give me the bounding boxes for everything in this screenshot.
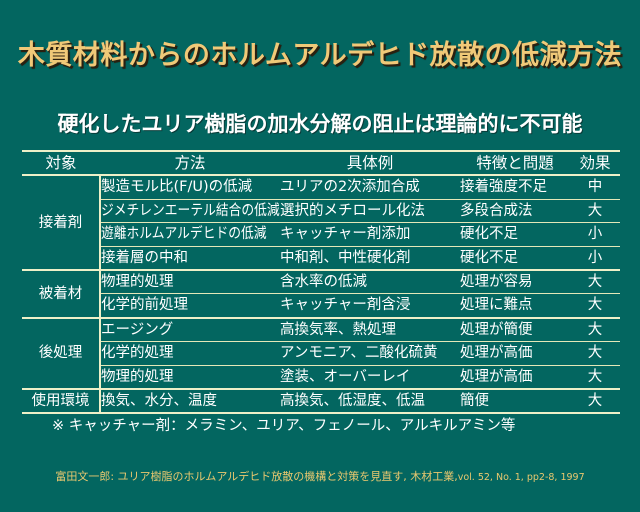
group-label-target: 接着剤	[22, 175, 100, 270]
header-feature: 特徴と問題	[460, 151, 570, 175]
citation-reference: 富田文一郎: ユリア樹脂のホルムアルデヒド放散の機構と対策を見直す, 木材工業,…	[0, 468, 640, 484]
footnote-catcher-agents: ※ キャッチャー剤：メラミン、ユリア、フェノール、アルキルアミン等	[52, 414, 515, 435]
cell-example: 中和剤、中性硬化剤	[280, 246, 460, 270]
cell-effect: 大	[570, 270, 620, 294]
table-row: 化学的前処理 キャッチャー剤含浸 処理に難点 大	[22, 294, 620, 318]
cell-example: ユリアの2次添加合成	[280, 175, 460, 199]
group-label-target: 使用環境	[22, 389, 100, 413]
cell-feature: 処理が高価	[460, 342, 570, 365]
cell-example: キャッチャー剤添加	[280, 223, 460, 246]
table-row: 接着剤 製造モル比(F/U)の低減 ユリアの2次添加合成 接着強度不足 中	[22, 175, 620, 199]
cell-method: 化学的前処理	[100, 294, 280, 318]
slide-canvas: 木質材料からのホルムアルデヒド放散の低減方法 硬化したユリア樹脂の加水分解の阻止…	[0, 0, 640, 512]
group-label-target: 被着材	[22, 270, 100, 318]
cell-effect: 小	[570, 223, 620, 246]
cell-feature: 硬化不足	[460, 223, 570, 246]
table-row: 使用環境 換気、水分、温度 高換気、低湿度、低温 簡便 大	[22, 389, 620, 413]
cell-method-text: 遊離ホルムアルデヒドの低減	[101, 223, 267, 245]
cell-example: キャッチャー剤含浸	[280, 294, 460, 318]
cell-effect: 大	[570, 365, 620, 389]
cell-effect: 小	[570, 246, 620, 270]
cell-example: 選択的メチロール化法	[280, 199, 460, 222]
header-target: 対象	[22, 151, 100, 175]
cell-example: 高換気、低湿度、低温	[280, 389, 460, 413]
cell-feature: 多段合成法	[460, 199, 570, 222]
header-method: 方法	[100, 151, 280, 175]
cell-example: アンモニア、二酸化硫黄	[280, 342, 460, 365]
cell-method: 製造モル比(F/U)の低減	[100, 175, 280, 199]
countermeasure-table-wrapper: 対象 方法 具体例 特徴と問題 効果 接着剤 製造モル比(F/U)の低減 ユリア…	[22, 150, 620, 414]
cell-example: 含水率の低減	[280, 270, 460, 294]
cell-feature: 処理が簡便	[460, 318, 570, 342]
table-row: 遊離ホルムアルデヒドの低減 キャッチャー剤添加 硬化不足 小	[22, 223, 620, 246]
cell-feature: 処理に難点	[460, 294, 570, 318]
citation-main: 富田文一郎: ユリア樹脂のホルムアルデヒド放散の機構と対策を見直す, 木材工業,	[55, 470, 457, 483]
table-row: 後処理 エージング 高換気率、熱処理 処理が簡便 大	[22, 318, 620, 342]
header-example: 具体例	[280, 151, 460, 175]
cell-effect: 大	[570, 294, 620, 318]
cell-effect: 大	[570, 389, 620, 413]
cell-feature: 処理が容易	[460, 270, 570, 294]
slide-title: 木質材料からのホルムアルデヒド放散の低減方法	[0, 33, 640, 72]
citation-detail: vol. 52, No. 1, pp2-8, 1997	[458, 472, 585, 483]
slide-subtitle: 硬化したユリア樹脂の加水分解の阻止は理論的に不可能	[0, 108, 640, 138]
cell-method: 物理的処理	[100, 270, 280, 294]
cell-method: エージング	[100, 318, 280, 342]
cell-method: 換気、水分、温度	[100, 389, 280, 413]
cell-method: 接着層の中和	[100, 246, 280, 270]
table-row: 化学的処理 アンモニア、二酸化硫黄 処理が高価 大	[22, 342, 620, 365]
table-row: 接着層の中和 中和剤、中性硬化剤 硬化不足 小	[22, 246, 620, 270]
cell-method: 物理的処理	[100, 365, 280, 389]
cell-feature: 接着強度不足	[460, 175, 570, 199]
header-effect: 効果	[570, 151, 620, 175]
cell-feature: 簡便	[460, 389, 570, 413]
cell-example: 高換気率、熱処理	[280, 318, 460, 342]
table-row: 物理的処理 塗装、オーバーレイ 処理が高価 大	[22, 365, 620, 389]
cell-feature: 硬化不足	[460, 246, 570, 270]
cell-effect: 大	[570, 342, 620, 365]
cell-feature: 処理が高価	[460, 365, 570, 389]
cell-method: 化学的処理	[100, 342, 280, 365]
cell-effect: 大	[570, 199, 620, 222]
table-header-row: 対象 方法 具体例 特徴と問題 効果	[22, 151, 620, 175]
cell-example: 塗装、オーバーレイ	[280, 365, 460, 389]
cell-effect: 大	[570, 318, 620, 342]
cell-effect: 中	[570, 175, 620, 199]
cell-method-text: ジメチレンエーテル結合の低減	[101, 200, 280, 222]
table-row: 被着材 物理的処理 含水率の低減 処理が容易 大	[22, 270, 620, 294]
table-row: ジメチレンエーテル結合の低減 選択的メチロール化法 多段合成法 大	[22, 199, 620, 222]
countermeasure-table: 対象 方法 具体例 特徴と問題 効果 接着剤 製造モル比(F/U)の低減 ユリア…	[22, 150, 620, 414]
cell-method: ジメチレンエーテル結合の低減	[100, 199, 280, 222]
group-label-target: 後処理	[22, 318, 100, 389]
cell-method: 遊離ホルムアルデヒドの低減	[100, 223, 280, 246]
